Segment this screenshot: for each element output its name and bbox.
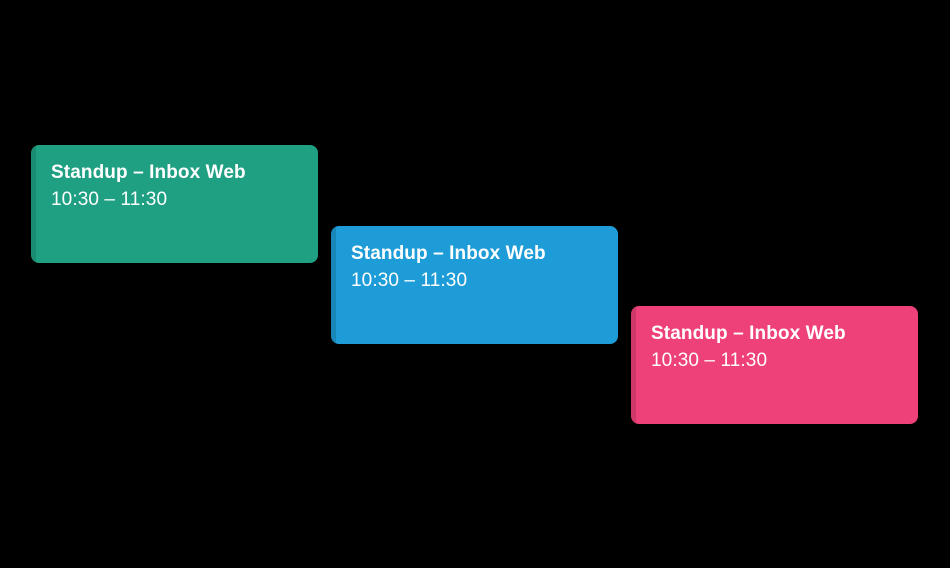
event-time: 10:30 – 11:30	[351, 267, 600, 294]
canvas-stage: Standup – Inbox Web10:30 – 11:30Standup …	[0, 0, 950, 568]
event-time: 10:30 – 11:30	[51, 186, 300, 213]
event-card-pink[interactable]: Standup – Inbox Web10:30 – 11:30	[631, 306, 918, 424]
event-title: Standup – Inbox Web	[351, 241, 600, 267]
event-title: Standup – Inbox Web	[51, 160, 300, 186]
event-title: Standup – Inbox Web	[651, 321, 900, 347]
event-time: 10:30 – 11:30	[651, 347, 900, 374]
event-card-blue[interactable]: Standup – Inbox Web10:30 – 11:30	[331, 226, 618, 344]
event-card-green[interactable]: Standup – Inbox Web10:30 – 11:30	[31, 145, 318, 263]
